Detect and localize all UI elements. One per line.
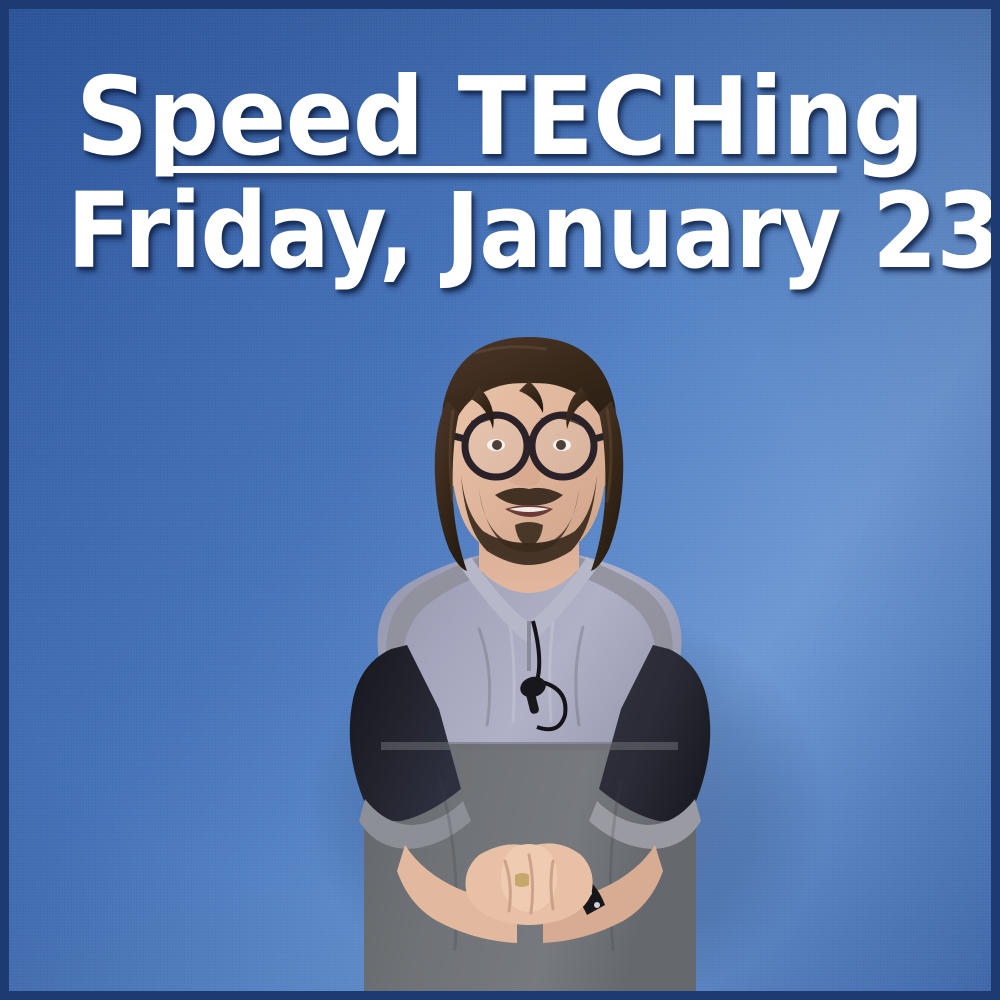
- title-block: Speed TECHing Friday, January 23rd: [9, 65, 991, 283]
- head: [435, 337, 624, 571]
- page-title-text: Speed TECHing: [76, 55, 924, 180]
- clasped-hands: [466, 843, 593, 925]
- title-card-slide: Speed TECHing Friday, January 23rd: [0, 0, 1000, 1000]
- page-title: Speed TECHing: [72, 65, 927, 177]
- finger-ring: [515, 873, 529, 887]
- page-subtitle: Friday, January 23rd: [67, 181, 1000, 283]
- shirt: [350, 554, 710, 991]
